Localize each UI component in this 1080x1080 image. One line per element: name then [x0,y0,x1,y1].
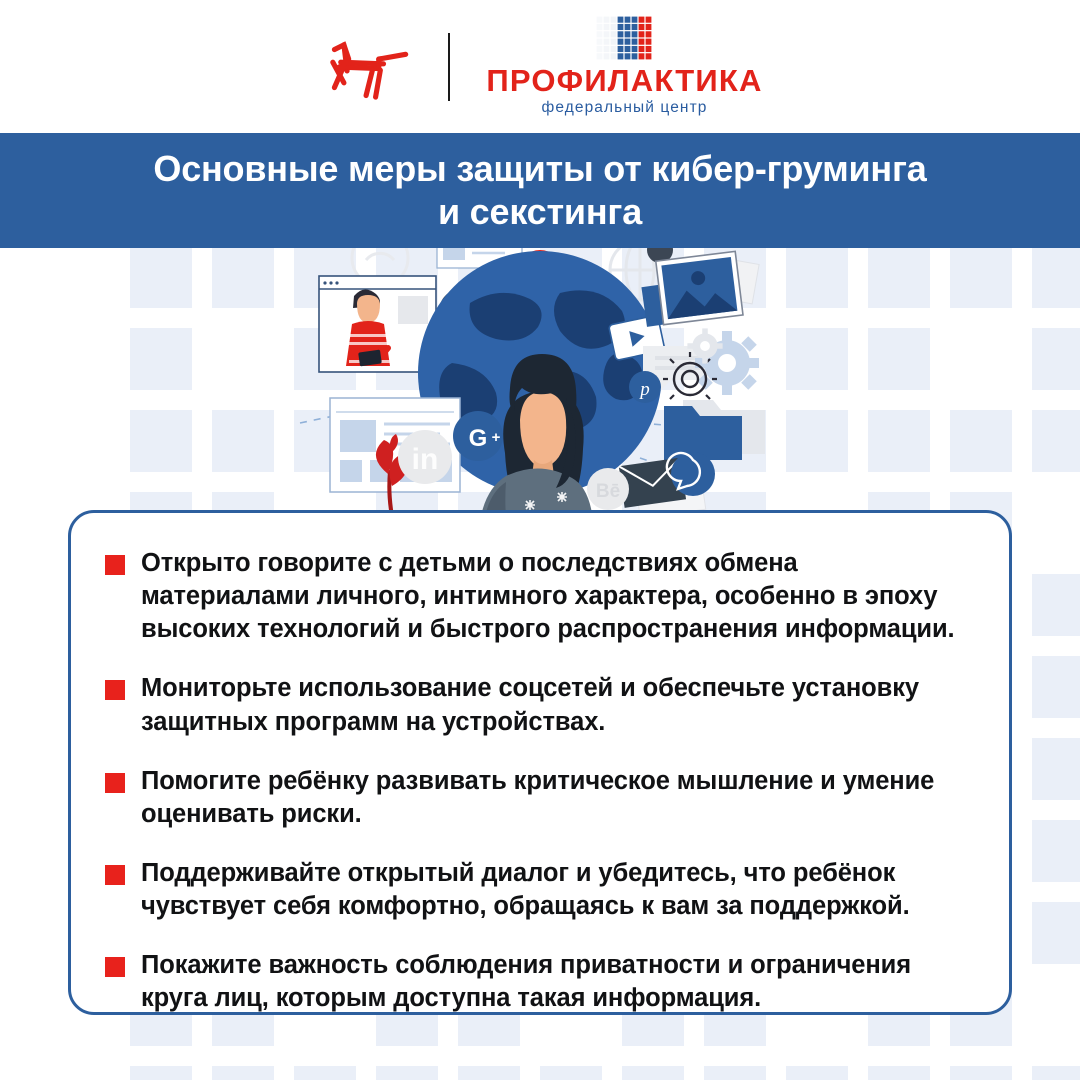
list-item: Мониторьте использование соцсетей и обес… [105,672,969,738]
page-title: Основные меры защиты от кибер-груминга и… [93,148,986,232]
svg-text:G: G [469,425,488,452]
flag-pixel [646,53,652,59]
flag-pixel [646,39,652,45]
list-item-text: Поддерживайте открытый диалог и убедитес… [141,857,969,923]
flag-pixel [611,39,617,45]
pattern-square [1032,902,1080,964]
pattern-square [868,1066,930,1080]
flag-pixel [604,53,610,59]
bullet-marker-icon [105,555,125,575]
list-item-text: Помогите ребёнку развивать критическое м… [141,765,969,831]
flag-pixel [618,39,624,45]
browser-window-with-man-icon [319,276,436,372]
flag-pixel [646,17,652,23]
brand-name: ПРОФИЛАКТИКА [486,65,762,96]
brand-header: ПРОФИЛАКТИКА федеральный центр [0,0,1080,133]
folder-icon [664,400,765,460]
flag-pixel [632,31,638,37]
flag-pixel [604,17,610,23]
flag-pixel [604,46,610,52]
pattern-square [1032,574,1080,636]
flag-pixel [646,46,652,52]
pattern-square [294,1066,356,1080]
flag-pixel [618,24,624,30]
pattern-square [458,1066,520,1080]
pattern-square [1032,820,1080,882]
list-item-text: Мониторьте использование соцсетей и обес… [141,672,969,738]
flag-pixel [597,17,603,23]
flag-pixel [632,53,638,59]
flag-pixel [604,31,610,37]
list-item: Покажите важность соблюдения приватности… [105,949,969,1015]
pattern-square [1032,1066,1080,1080]
pattern-square [950,1066,1012,1080]
brand-wordmark-block: ПРОФИЛАКТИКА федеральный центр [486,16,762,117]
page-title-line-2: и секстинга [438,191,642,232]
flag-pixel [597,53,603,59]
flag-pixel [618,17,624,23]
red-horse-line-art-icon [317,26,412,108]
list-item: Помогите ребёнку развивать критическое м… [105,765,969,831]
pixel-flag-grid-icon [596,16,652,65]
pattern-square [622,1066,684,1080]
recommendations-card: Открыто говорите с детьми о последствиях… [68,510,1012,1015]
pattern-square [212,1066,274,1080]
poster-root: ПРОФИЛАКТИКА федеральный центр Основные … [0,0,1080,1080]
flag-pixel [632,46,638,52]
list-item: Поддерживайте открытый диалог и убедитес… [105,857,969,923]
flag-pixel [618,53,624,59]
flag-pixel [611,24,617,30]
flag-pixel [597,31,603,37]
vertical-divider-icon [448,33,450,101]
bullet-marker-icon [105,957,125,977]
brand-subtitle: федеральный центр [541,99,707,117]
flag-pixel [625,46,631,52]
flag-pixel [604,39,610,45]
svg-text:p: p [638,379,650,400]
flag-pixel [639,24,645,30]
pattern-square [130,1066,192,1080]
list-item: Открыто говорите с детьми о последствиях… [105,547,969,646]
list-item-text: Покажите важность соблюдения приватности… [141,949,969,1015]
pattern-square [376,1066,438,1080]
flag-pixel [632,17,638,23]
google-plus-icon: G + [453,411,503,461]
flag-pixel [646,31,652,37]
pattern-square [786,1066,848,1080]
flag-pixel [632,39,638,45]
flag-pixel [625,31,631,37]
list-item-text: Открыто говорите с детьми о последствиях… [141,547,969,646]
bullet-marker-icon [105,773,125,793]
pattern-square [704,1066,766,1080]
flag-pixel [639,17,645,23]
pinterest-icon: p [629,371,661,403]
bullet-marker-icon [105,865,125,885]
flag-pixel [611,17,617,23]
flag-pixel [611,31,617,37]
flag-pixel [625,17,631,23]
svg-text:Bē: Bē [596,481,620,502]
pattern-square [1032,738,1080,800]
flag-pixel [625,53,631,59]
flag-pixel [611,46,617,52]
flag-pixel [639,31,645,37]
linkedin-icon: in [398,430,452,484]
flag-pixel [646,24,652,30]
page-title-line-1: Основные меры защиты от кибер-груминга [153,148,926,189]
flag-pixel [597,24,603,30]
flag-pixel [639,53,645,59]
recommendations-list: Открыто говорите с детьми о последствиях… [105,547,969,1016]
flag-pixel [597,46,603,52]
behance-icon: Bē [587,468,629,510]
photo-stack-icon [641,251,759,326]
svg-text:+: + [492,429,501,446]
flag-pixel [625,24,631,30]
flag-pixel [618,31,624,37]
pattern-square [1032,656,1080,718]
flag-pixel [618,46,624,52]
svg-text:in: in [412,443,439,476]
flag-pixel [597,39,603,45]
flag-pixel [639,39,645,45]
flag-pixel [632,24,638,30]
flag-pixel [639,46,645,52]
flag-pixel [604,24,610,30]
title-banner: Основные меры защиты от кибер-груминга и… [0,133,1080,248]
bullet-marker-icon [105,680,125,700]
flag-pixel [611,53,617,59]
flag-pixel [625,39,631,45]
pattern-square [540,1066,602,1080]
hero-illustration: G + in p Bē [0,248,1080,540]
